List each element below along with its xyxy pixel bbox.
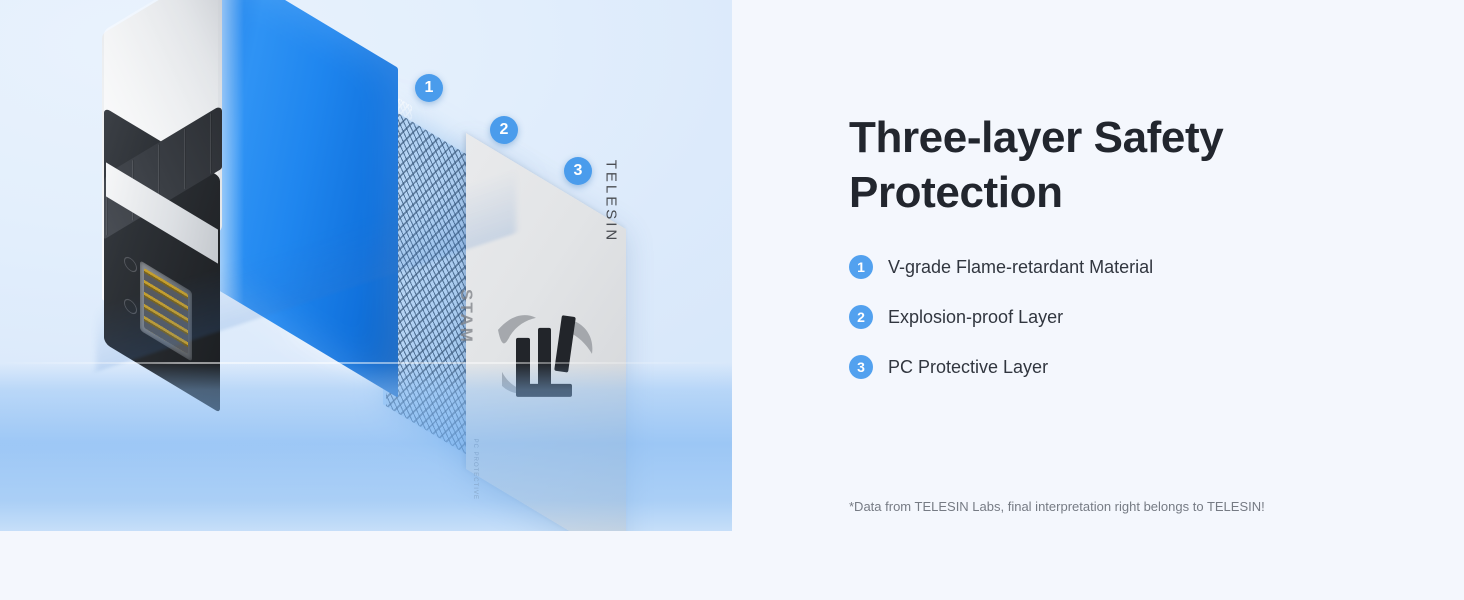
feature-list-item-1: 1 V-grade Flame-retardant Material	[849, 242, 1153, 292]
table-horizon-line	[0, 362, 732, 364]
product-image-panel: TELESIN STAM PC PROTECTIVE	[0, 0, 732, 531]
battery-cell-face	[212, 0, 398, 398]
feature-list-item-3: 3 PC Protective Layer	[849, 342, 1153, 392]
disclaimer-footnote: *Data from TELESIN Labs, final interpret…	[849, 499, 1265, 514]
text-content-panel: Three-layer Safety Protection 1 V-grade …	[849, 0, 1409, 600]
image-callout-badge-3: 3	[564, 157, 592, 185]
feature-label-1: V-grade Flame-retardant Material	[888, 257, 1153, 278]
reflective-table-surface	[0, 363, 732, 531]
feature-badge-3: 3	[849, 355, 873, 379]
page-title: Three-layer Safety Protection	[849, 111, 1279, 220]
pc-panel-brand-text: TELESIN	[603, 160, 620, 244]
feature-label-3: PC Protective Layer	[888, 357, 1048, 378]
image-callout-badge-2: 2	[490, 116, 518, 144]
pc-panel-stamp-text: STAM	[456, 289, 476, 344]
feature-badge-1: 1	[849, 255, 873, 279]
battery-product	[96, 0, 426, 400]
feature-badge-2: 2	[849, 305, 873, 329]
feature-list: 1 V-grade Flame-retardant Material 2 Exp…	[849, 242, 1153, 392]
image-callout-badge-1: 1	[415, 74, 443, 102]
feature-list-item-2: 2 Explosion-proof Layer	[849, 292, 1153, 342]
feature-label-2: Explosion-proof Layer	[888, 307, 1063, 328]
